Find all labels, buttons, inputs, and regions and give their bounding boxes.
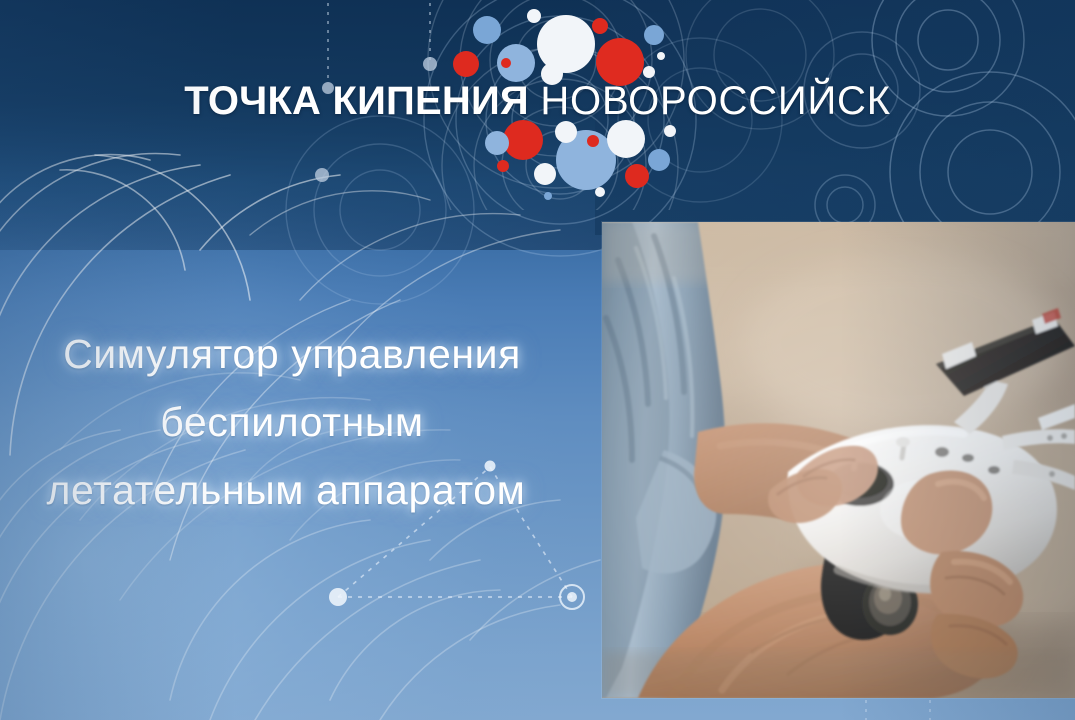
slide-title-line-2: беспилотным <box>0 388 592 456</box>
title-slide: ТОЧКА КИПЕНИЯ НОВОРОССИЙСК Симулятор упр… <box>0 0 1075 720</box>
logo-wordmark-bold: ТОЧКА КИПЕНИЯ <box>184 79 529 123</box>
slide-title-line-3: летательным аппаратом <box>0 456 592 524</box>
logo-wordmark: ТОЧКА КИПЕНИЯ НОВОРОССИЙСК <box>0 79 1075 123</box>
slide-title-line-1: Симулятор управления <box>0 320 592 388</box>
brand-logo: ТОЧКА КИПЕНИЯ НОВОРОССИЙСК <box>0 0 1075 210</box>
drone-controller-photo <box>602 222 1075 698</box>
slide-title: Симулятор управления беспилотным летател… <box>0 320 592 524</box>
drone-controller-illustration <box>602 222 1075 698</box>
logo-wordmark-light: НОВОРОССИЙСК <box>540 79 890 123</box>
